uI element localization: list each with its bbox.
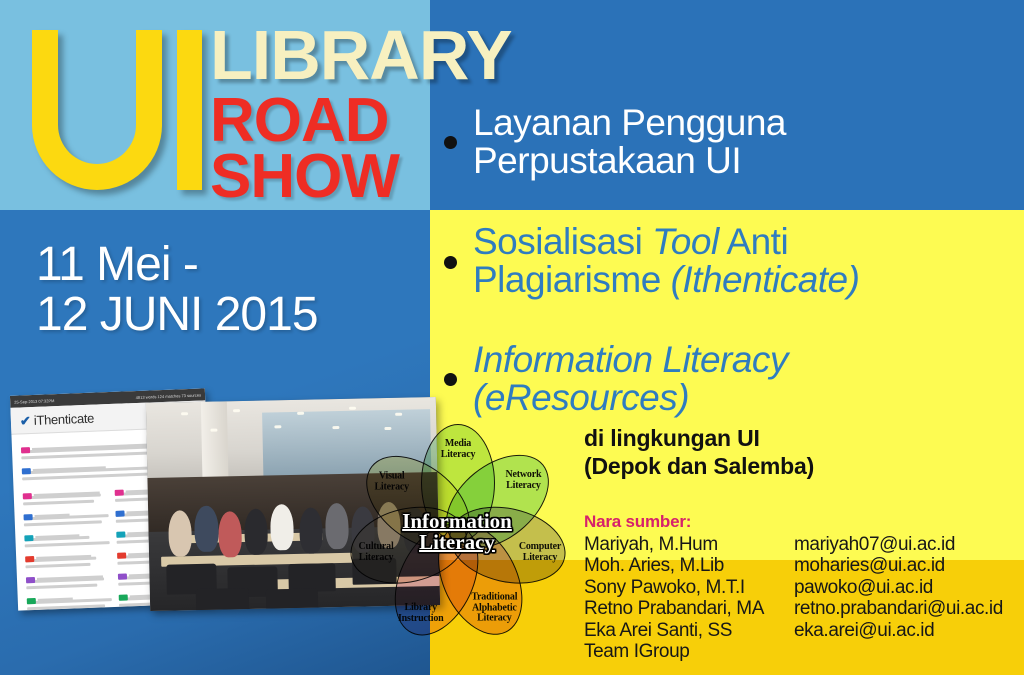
- match-chip-icon: [115, 510, 124, 516]
- ithenticate-brand-label: iThenticate: [34, 411, 95, 428]
- wordmark-library: LIBRARY: [210, 22, 512, 89]
- poster: LIBRARY ROAD SHOW 11 Mei - 12 JUNI 2015 …: [0, 0, 1024, 675]
- venue-line2: (Depok dan Salemba): [584, 452, 814, 480]
- photo-chair: [196, 588, 249, 611]
- document-text-line: [26, 568, 111, 577]
- program-item-3-line1: Information Literacy: [473, 341, 788, 379]
- program-item-3-line2: (eResources): [473, 379, 788, 417]
- p2-l2-italic: (Ithenticate): [671, 259, 860, 300]
- event-date-line2: 12 JUNI 2015: [36, 290, 318, 340]
- contact-row: Mariyah, M.Hummariyah07@ui.ac.id: [584, 534, 1003, 555]
- document-column: [22, 484, 114, 611]
- program-item-2: Sosialisasi Tool Anti Plagiarisme (Ithen…: [444, 223, 1024, 298]
- program-item-1: Layanan Pengguna Perpustakaan UI: [444, 104, 1024, 179]
- contact-email[interactable]: eka.arei@ui.ac.id: [794, 620, 934, 641]
- program-item-2-line1: Sosialisasi Tool Anti: [473, 223, 859, 261]
- contact-name: Moh. Aries, M.Lib: [584, 555, 794, 576]
- photo-person: [270, 504, 294, 550]
- document-text-line: [22, 484, 107, 493]
- photo-person: [194, 506, 218, 552]
- bullet-dot-icon: [444, 373, 457, 386]
- logo-i-glyph: [177, 30, 202, 190]
- contact-row: Eka Arei Santi, SSeka.arei@ui.ac.id: [584, 620, 1003, 641]
- photo-ceiling-light: [233, 409, 240, 412]
- photo-person: [244, 509, 268, 555]
- match-chip-icon: [115, 489, 124, 495]
- match-chip-icon: [116, 531, 125, 537]
- ui-logo: [24, 18, 204, 198]
- photo-person: [299, 508, 323, 554]
- document-text-line: [23, 506, 88, 514]
- match-chip-icon: [22, 468, 31, 474]
- photo-ceiling-light: [274, 425, 281, 428]
- match-chip-icon: [25, 556, 34, 562]
- match-chip-icon: [21, 447, 30, 453]
- logo-u-glyph: [32, 30, 162, 190]
- contact-name: Retno Prabandari, MA: [584, 598, 794, 619]
- photo-ceiling-light: [210, 429, 217, 432]
- contact-email[interactable]: retno.prabandari@ui.ac.id: [794, 598, 1003, 619]
- document-text-line: [24, 520, 102, 526]
- contact-name: Eka Arei Santi, SS: [584, 620, 794, 641]
- match-chip-icon: [23, 514, 32, 520]
- program-item-2-text: Sosialisasi Tool Anti Plagiarisme (Ithen…: [473, 223, 859, 298]
- match-chip-icon: [23, 493, 32, 499]
- p2-l1-b: Anti: [719, 221, 789, 262]
- contacts-block: Nara sumber: Mariyah, M.Hummariyah07@ui.…: [584, 512, 1003, 663]
- program-item-1-text: Layanan Pengguna Perpustakaan UI: [473, 104, 786, 179]
- document-text-line: [25, 541, 110, 547]
- document-text-line: [23, 500, 94, 506]
- program-item-3-text: Information Literacy (eResources): [473, 341, 788, 416]
- document-text-line: [25, 547, 103, 556]
- bullet-dot-icon: [444, 256, 457, 269]
- contact-email[interactable]: mariyah07@ui.ac.id: [794, 534, 955, 555]
- program-item-3: Information Literacy (eResources): [444, 341, 1024, 416]
- contact-row: Sony Pawoko, M.T.Ipawoko@ui.ac.id: [584, 577, 1003, 598]
- p2-l2-a: Plagiarisme: [473, 259, 671, 300]
- match-chip-icon: [27, 598, 36, 604]
- program-item-2-line2: Plagiarisme (Ithenticate): [473, 261, 859, 299]
- contact-name: Sony Pawoko, M.T.I: [584, 577, 794, 598]
- information-literacy-diagram: MediaLiteracyNetworkLiteracyComputerLite…: [338, 418, 576, 646]
- match-chip-icon: [24, 535, 33, 541]
- diagram-petal-label: ComputerLiteracy: [504, 542, 576, 563]
- venue-text: di lingkungan UI (Depok dan Salemba): [584, 424, 814, 480]
- contact-name: Team IGroup: [584, 641, 794, 662]
- match-chip-icon: [26, 577, 35, 583]
- document-text-line: [25, 563, 90, 568]
- diagram-petal-label: MediaLiteracy: [422, 439, 494, 460]
- contact-row: Retno Prabandari, MAretno.prabandari@ui.…: [584, 598, 1003, 619]
- diagram-petal-label: VisualLiteracy: [356, 471, 428, 492]
- event-date-line1: 11 Mei -: [36, 240, 318, 290]
- program-item-1-line2: Perpustakaan UI: [473, 142, 786, 180]
- contacts-rows: Mariyah, M.Hummariyah07@ui.ac.idMoh. Ari…: [584, 534, 1003, 663]
- photo-person: [218, 511, 242, 557]
- contact-email[interactable]: moharies@ui.ac.id: [794, 555, 945, 576]
- p2-l1-a: Sosialisasi: [473, 221, 652, 262]
- document-text-line: [27, 590, 92, 598]
- bullet-dot-icon: [444, 136, 457, 149]
- match-chip-icon: [119, 594, 128, 600]
- ithenticate-timestamp: 25-Sep-2013 07:32PM: [14, 398, 54, 405]
- program-item-1-line1: Layanan Pengguna: [473, 104, 786, 142]
- diagram-petal-label: LibraryInstruction: [385, 603, 457, 624]
- ithenticate-stats: 4813 words 124 matches 73 sources: [136, 392, 202, 400]
- event-date: 11 Mei - 12 JUNI 2015: [36, 240, 318, 340]
- diagram-center-line2: Literacy: [419, 530, 495, 554]
- document-text-line: [26, 584, 97, 590]
- contact-name: Mariyah, M.Hum: [584, 534, 794, 555]
- contact-row: Team IGroup: [584, 641, 1003, 662]
- contact-email[interactable]: pawoko@ui.ac.id: [794, 577, 933, 598]
- match-chip-icon: [118, 573, 127, 579]
- p2-l1-italic: Tool: [652, 221, 719, 262]
- contacts-heading: Nara sumber:: [584, 512, 1003, 532]
- program-list: Layanan Pengguna Perpustakaan UI Sosiali…: [444, 104, 1024, 416]
- venue-line1: di lingkungan UI: [584, 424, 814, 452]
- document-text-line: [24, 527, 96, 536]
- match-chip-icon: [117, 552, 126, 558]
- photo-ceiling-light: [395, 412, 402, 415]
- diagram-petal-label: NetworkLiteracy: [487, 470, 559, 491]
- contact-row: Moh. Aries, M.Libmoharies@ui.ac.id: [584, 555, 1003, 576]
- check-icon: ✔: [20, 414, 31, 427]
- diagram-center-label: Information Literacy: [402, 511, 512, 553]
